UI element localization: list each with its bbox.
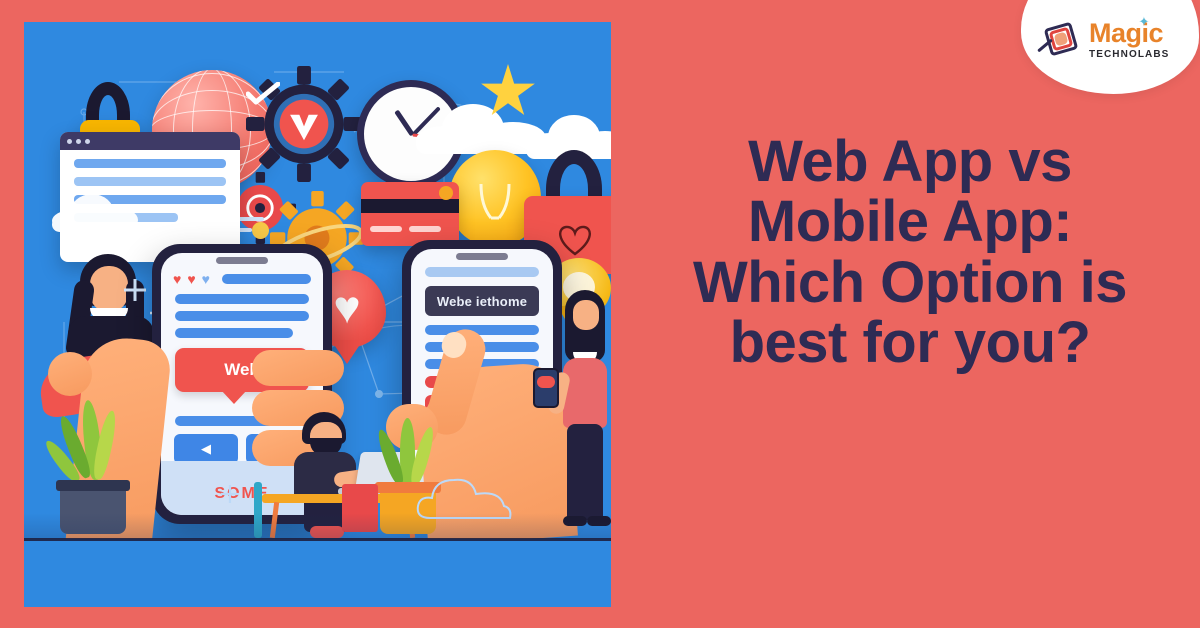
window-dot [76, 139, 81, 144]
phone-notch [456, 253, 508, 260]
illustration-panel: ♥ [24, 22, 611, 607]
content-line [74, 177, 226, 186]
plus-icon [122, 277, 148, 308]
legs [567, 424, 603, 520]
logo-text-block: Magic TECHNOLABS ✦ [1089, 20, 1169, 60]
held-phone-screen [537, 376, 555, 388]
content-row [175, 311, 309, 321]
mobile-phone-field[interactable]: Webe iethome [425, 286, 539, 316]
headline-line-2: Mobile App: [636, 192, 1184, 252]
magic-logo-mark-icon [1040, 20, 1082, 60]
window-dot [67, 139, 72, 144]
headline-line-3: Which Option is [636, 253, 1184, 313]
content-line [74, 159, 226, 168]
plus-icon [220, 484, 240, 509]
card-line [370, 226, 402, 232]
logo-lockup[interactable]: Magic TECHNOLABS ✦ [1040, 20, 1169, 60]
torso [563, 358, 607, 428]
cloud-icon [52, 194, 138, 232]
prev-icon: ◀ [201, 441, 211, 457]
window-titlebar [60, 132, 240, 150]
phone-notch [216, 257, 268, 264]
heart-icon: ♥ [187, 271, 195, 287]
placeholder-bar [222, 274, 311, 284]
content-row [175, 294, 309, 304]
logo-badge[interactable]: Magic TECHNOLABS ✦ [1021, 0, 1199, 94]
heart-icon: ♥ [173, 271, 181, 287]
orbit-dot [252, 222, 269, 239]
card-chip [439, 186, 453, 200]
content-row [175, 328, 293, 338]
held-phone-icon [533, 368, 559, 408]
panel-bottom-strip [24, 541, 611, 607]
mobile-phone-field-label: Webe iethome [437, 294, 527, 309]
content-row [425, 325, 539, 335]
button-nub [221, 390, 247, 404]
heart-outline-icon [554, 220, 596, 256]
card-line [409, 226, 441, 232]
page-title: Web App vs Mobile App: Which Option is b… [636, 132, 1184, 373]
headline-line-1: Web App vs [636, 132, 1184, 192]
sparkle-icon: ✦ [1139, 15, 1150, 28]
woman-with-phone [549, 290, 611, 539]
finger [252, 350, 344, 386]
card-stripe [361, 199, 459, 213]
credit-card-icon [361, 182, 459, 246]
pot-rim [56, 480, 130, 491]
illustration-scene: ♥ [24, 22, 611, 539]
heart-icon: ♥ [202, 271, 210, 287]
face [573, 300, 599, 330]
window-dot [85, 139, 90, 144]
banner-root: ♥ [0, 0, 1200, 628]
logo-wordmark: Magic [1089, 20, 1169, 47]
logo-subtitle: TECHNOLABS [1089, 49, 1169, 60]
like-row: ♥ ♥ ♥ [173, 271, 311, 287]
heart-glyph: ♥ [333, 284, 360, 330]
ground-shadow [24, 513, 611, 539]
prev-button[interactable]: ◀ [174, 434, 238, 464]
headline-line-4: best for you? [636, 313, 1184, 373]
thumb [48, 352, 92, 396]
content-row [425, 267, 539, 277]
check-mark-icon [246, 82, 280, 111]
